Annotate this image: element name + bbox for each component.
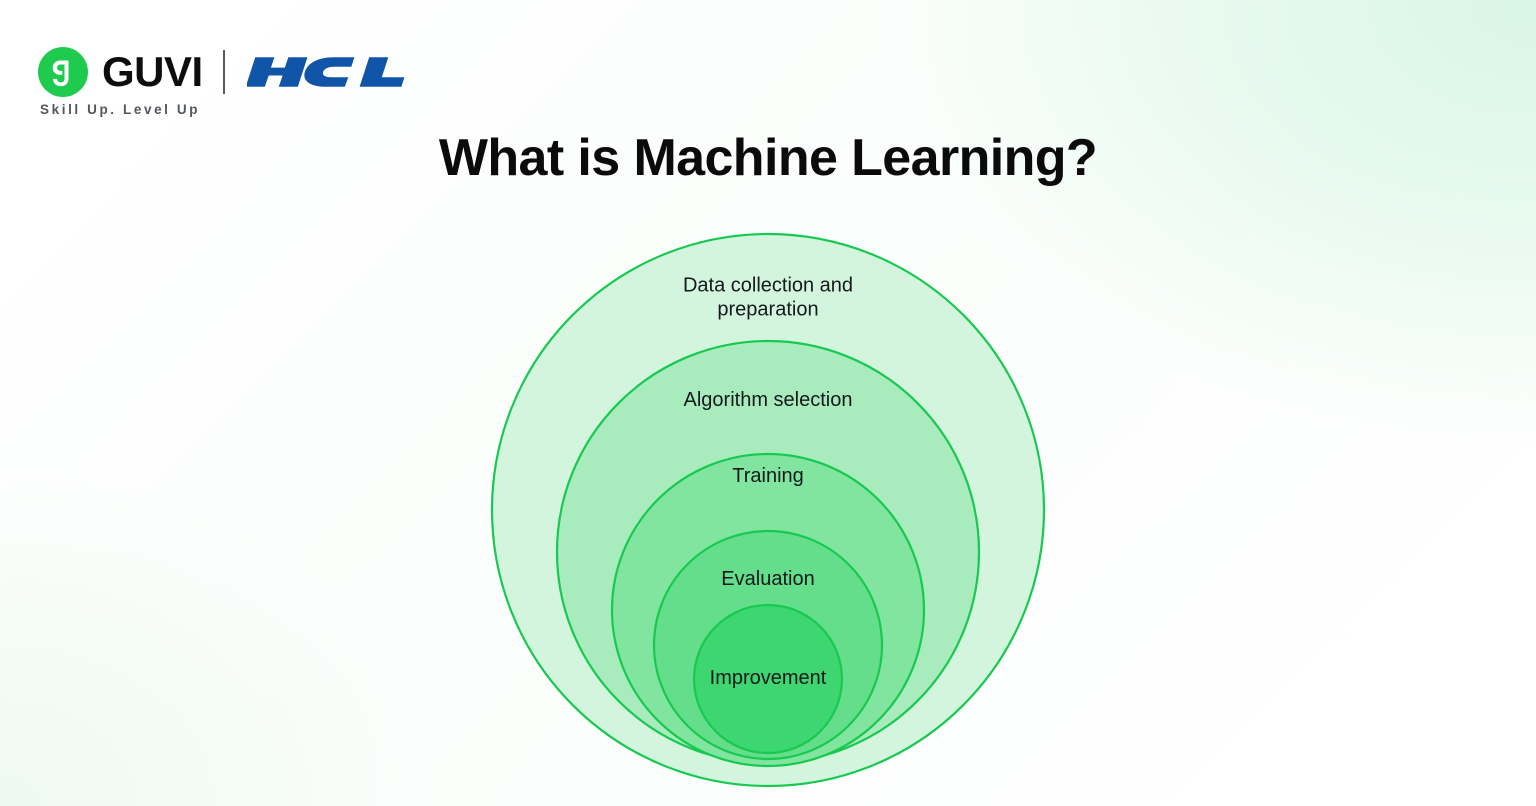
stage-circle-5 xyxy=(694,605,842,753)
nested-circles-diagram xyxy=(0,0,1536,806)
slide-canvas: GUVI Skill Up. Level Up What is Machine … xyxy=(0,0,1536,806)
